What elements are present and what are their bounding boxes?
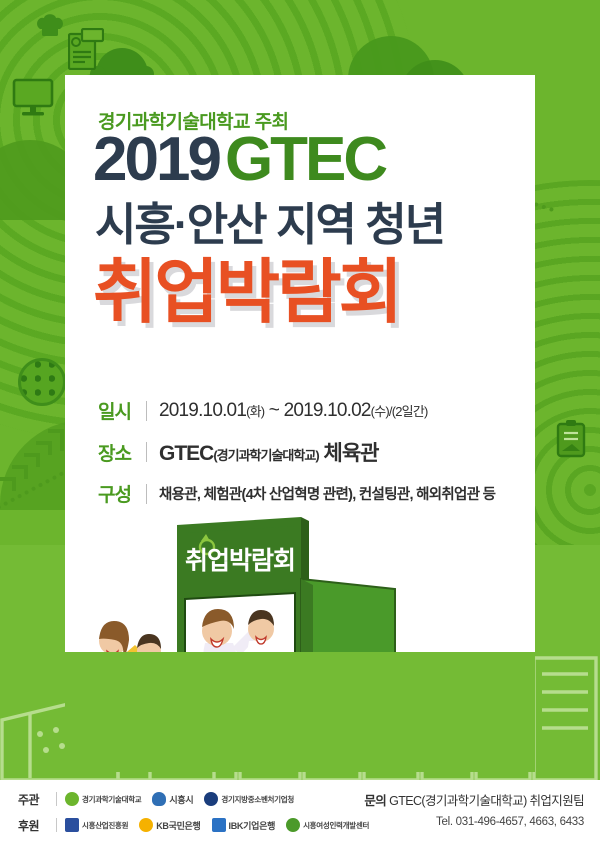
- logo-siheung-city: 시흥시: [152, 792, 193, 806]
- footer-divider: [56, 818, 57, 832]
- siheung-city-logo-mark: [152, 792, 166, 806]
- info-value-place: GTEC(경기과학기술대학교) 체육관: [159, 437, 378, 467]
- logo-siheung-women-center-label: 시흥여성인력개발센터: [303, 820, 369, 831]
- kb-logo-mark: [139, 818, 153, 832]
- place-brand-full: (경기과학기술대학교): [213, 448, 318, 463]
- date-end-day: (수): [371, 404, 389, 419]
- logo-gyeonggi-sme-label: 경기지방중소벤처기업청: [221, 794, 294, 805]
- poster-title-main: 2019GTEC: [93, 129, 385, 191]
- poster-card: 경기과학기술대학교 주최 2019GTEC 시흥·안산 지역 청년 취업박람회 …: [65, 75, 535, 772]
- booth-illustration: 취업박람회: [65, 515, 535, 772]
- info-divider: [146, 401, 147, 421]
- info-label-composition: 구성: [98, 480, 142, 507]
- logo-ibk-bank-label: IBK기업은행: [229, 819, 276, 832]
- place-brand: GTEC: [159, 442, 213, 465]
- info-divider: [146, 484, 147, 504]
- monitor-icon: [12, 78, 54, 118]
- golf-ball-icon: [18, 358, 66, 406]
- info-row-composition: 구성 채용관, 체험관(4차 산업혁명 관련), 컨설팅관, 해외취업관 등: [98, 480, 518, 507]
- ibk-logo-mark: [212, 818, 226, 832]
- gyeonggi-sme-logo-mark: [204, 792, 218, 806]
- logo-gyeonggi-sme-office: 경기지방중소벤처기업청: [204, 792, 294, 806]
- info-row-date: 일시 2019.10.01(화) ~ 2019.10.02(수)/(2일간): [98, 397, 518, 424]
- logo-kb-bank: KB국민은행: [139, 818, 200, 832]
- footer-hosts-line: 주관 경기과학기술대학교 시흥시 경기지방중소벤처기업청: [18, 786, 380, 812]
- date-start: 2019.10.01: [159, 400, 246, 421]
- info-label-place: 장소: [98, 439, 142, 466]
- siheung-women-center-logo-mark: [286, 818, 300, 832]
- event-info-block: 일시 2019.10.01(화) ~ 2019.10.02(수)/(2일간) 장…: [98, 397, 518, 520]
- logo-siheung-industry: 시흥산업진흥원: [65, 818, 128, 832]
- poster-footer: 주관 경기과학기술대학교 시흥시 경기지방중소벤처기업청 후원: [0, 780, 600, 848]
- contact-label: 문의: [364, 794, 386, 808]
- siheung-industry-logo-mark: [65, 818, 79, 832]
- contact-tel: Tel. 031-496-4657, 4663, 6433: [364, 816, 584, 828]
- logo-gtec: 경기과학기술대학교: [65, 792, 141, 806]
- title-year: 2019: [93, 125, 219, 194]
- date-duration: /(2일간): [389, 404, 428, 419]
- footer-host-label: 주관: [18, 791, 48, 808]
- info-row-place: 장소 GTEC(경기과학기술대학교) 체육관: [98, 437, 518, 467]
- gtec-logo-mark: [65, 792, 79, 806]
- logo-siheung-women-center: 시흥여성인력개발센터: [286, 818, 369, 832]
- logo-siheung-city-label: 시흥시: [169, 793, 193, 806]
- info-label-date: 일시: [98, 397, 142, 424]
- info-value-composition: 채용관, 체험관(4차 산업혁명 관련), 컨설팅관, 해외취업관 등: [159, 483, 495, 504]
- logo-kb-bank-label: KB국민은행: [156, 819, 200, 832]
- title-brand: GTEC: [225, 125, 385, 194]
- logo-siheung-industry-label: 시흥산업진흥원: [82, 820, 128, 831]
- info-divider: [146, 442, 147, 462]
- footer-logos: 주관 경기과학기술대학교 시흥시 경기지방중소벤처기업청 후원: [18, 786, 380, 838]
- logo-ibk-bank: IBK기업은행: [212, 818, 276, 832]
- title-event-name: 취업박람회: [93, 257, 400, 327]
- stairs-icon: [0, 425, 65, 485]
- chef-hat-icon: [36, 12, 64, 38]
- date-start-day: (화): [246, 404, 264, 419]
- info-value-date: 2019.10.01(화) ~ 2019.10.02(수)/(2일간): [159, 400, 428, 422]
- contact-org: GTEC(경기과학기술대학교) 취업지원팀: [389, 794, 584, 808]
- footer-contact: 문의 GTEC(경기과학기술대학교) 취업지원팀 Tel. 031-496-46…: [364, 790, 584, 828]
- date-range-mid: ~ 2019.10.02: [264, 400, 370, 421]
- logo-gtec-label: 경기과학기술대학교: [82, 794, 141, 805]
- footer-sponsor-label: 후원: [18, 817, 48, 834]
- illustration-floor: [65, 652, 535, 772]
- title-subtitle-region: 시흥·안산 지역 청년: [95, 202, 444, 247]
- booth-sign-text: 취업박람회: [185, 547, 295, 575]
- footer-sponsors-line: 후원 시흥산업진흥원 KB국민은행 IBK기업은행 시흥여성인력개발센터: [18, 812, 380, 838]
- footer-divider: [56, 792, 57, 806]
- place-venue: 체육관: [324, 442, 379, 465]
- clipboard-icon: [556, 420, 586, 458]
- poster-canvas: 경기과학기술대학교 주최 2019GTEC 시흥·안산 지역 청년 취업박람회 …: [0, 0, 600, 848]
- contact-line: 문의 GTEC(경기과학기술대학교) 취업지원팀: [364, 790, 584, 809]
- document-icon: [68, 28, 104, 70]
